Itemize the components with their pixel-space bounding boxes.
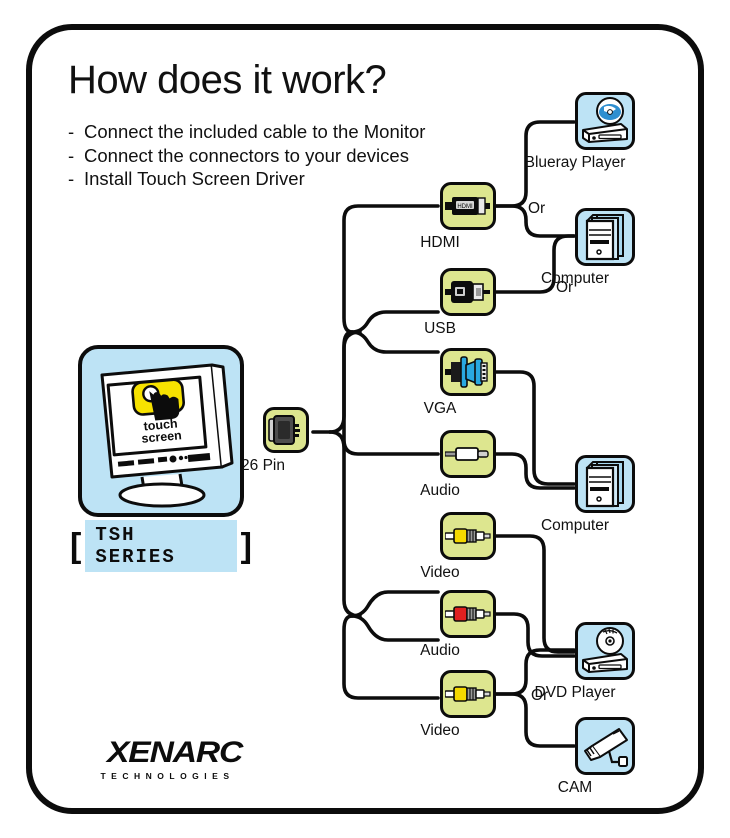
device-icon-box [575, 622, 635, 680]
list-item-text: Connect the connectors to your devices [84, 145, 409, 166]
dvd-player-icon [579, 626, 631, 676]
xenarc-logo: XENARC TECHNOLOGIES [80, 738, 255, 781]
vga-connector-icon [445, 355, 491, 389]
instruction-list: -Connect the included cable to the Monit… [68, 120, 425, 191]
node-label: 26 Pin [241, 457, 285, 475]
or-label-usb: Or [556, 279, 573, 297]
node-label: Audio [420, 642, 460, 660]
node-label: Computer [541, 270, 609, 288]
node-label: VGA [424, 400, 457, 418]
rca-audio-red-icon [445, 605, 491, 623]
rca-video-yellow-icon [445, 527, 491, 545]
device-icon-box [575, 92, 635, 150]
bullet-dash: - [68, 144, 84, 168]
connector-icon-box [440, 670, 496, 718]
tsh-series-label: TSH SERIES [95, 524, 175, 568]
node-label: Audio [420, 482, 460, 500]
connector-icon-box [440, 512, 496, 560]
node-label: CAM [558, 779, 592, 797]
bracket-left: [ [70, 529, 81, 563]
connector-icon-box [440, 268, 496, 316]
page-title: How does it work? [68, 58, 386, 103]
hdmi-connector-icon: HDMI [445, 194, 491, 218]
device-icon-box [575, 717, 635, 775]
bullet-dash: - [68, 120, 84, 144]
logo-wordmark: XENARC [107, 738, 242, 768]
or-label-video: Or [531, 687, 548, 705]
node-label: HDMI [420, 234, 460, 252]
rca-video-yellow-icon [445, 685, 491, 703]
26-pin-connector-icon [266, 413, 306, 447]
list-item: -Install Touch Screen Driver [68, 167, 425, 191]
audio-jack-icon [445, 446, 491, 462]
node-label: Video [420, 564, 459, 582]
svg-text:HDMI: HDMI [457, 204, 473, 210]
node-label: Blueray Player [525, 154, 626, 172]
computer-tower-icon [579, 212, 631, 262]
connector-icon-box [440, 348, 496, 396]
list-item-text: Install Touch Screen Driver [84, 168, 305, 189]
monitor-icon-panel: touch screen [78, 345, 244, 517]
connector-icon-box: HDMI [440, 182, 496, 230]
bullet-dash: - [68, 167, 84, 191]
bracket-right: ] [241, 529, 252, 563]
computer-tower-icon [579, 459, 631, 509]
node-label: USB [424, 320, 456, 338]
list-item: -Connect the connectors to your devices [68, 144, 425, 168]
blueray-player-icon [579, 96, 631, 146]
device-icon-box [575, 455, 635, 513]
list-item: -Connect the included cable to the Monit… [68, 120, 425, 144]
connector-icon-box [263, 407, 309, 453]
tsh-series-badge: [ TSH SERIES ] [70, 530, 252, 562]
node-label: Video [420, 722, 459, 740]
device-icon-box [575, 208, 635, 266]
list-item-text: Connect the included cable to the Monito… [84, 121, 425, 142]
touch-screen-monitor-icon: touch screen [82, 349, 240, 513]
logo-tagline: TECHNOLOGIES [80, 771, 255, 781]
connector-icon-box [440, 590, 496, 638]
security-camera-icon [579, 721, 631, 771]
or-label-hdmi: Or [528, 200, 545, 218]
connector-icon-box [440, 430, 496, 478]
usb-connector-icon [445, 279, 491, 305]
node-label: Computer [541, 517, 609, 535]
